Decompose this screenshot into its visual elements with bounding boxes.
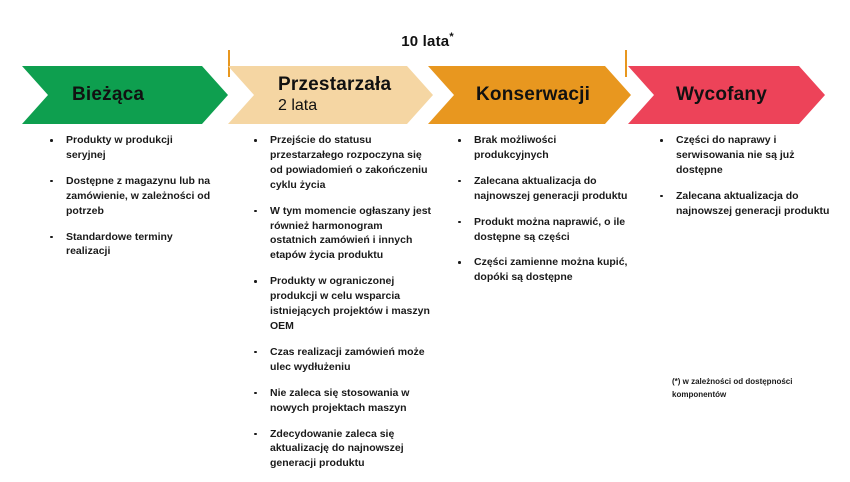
stage-arrow-przestarzala[interactable]: Przestarzała 2 lata <box>228 66 433 124</box>
duration-label-text: 10 lata <box>401 33 449 50</box>
list-item: Części do naprawy i serwisowania nie są … <box>658 133 838 178</box>
list-item: Nie zaleca się stosowania w nowych proje… <box>252 386 432 416</box>
stage-title-biezaca: Bieżąca <box>72 85 144 105</box>
list-item: Zalecana aktualizacja do najnowszej gene… <box>456 174 631 204</box>
stage-arrow-biezaca-text: Bieżąca <box>72 85 144 105</box>
stage-arrow-konserwacji[interactable]: Konserwacji <box>428 66 631 124</box>
list-item: Dostępne z magazynu lub na zamówienie, w… <box>48 174 213 219</box>
stage-arrow-band: Bieżąca Przestarzała 2 lata Konserwacji … <box>0 66 850 124</box>
list-item: Brak możliwości produkcyjnych <box>456 133 631 163</box>
stage-details-konserwacji: Brak możliwości produkcyjnych Zalecana a… <box>456 133 631 296</box>
list-item: Produkty w produkcji seryjnej <box>48 133 213 163</box>
lifecycle-diagram: 10 lata* Bieżąca Przestarzała 2 lata Kon… <box>0 0 850 436</box>
stage-arrow-przestarzala-text: Przestarzała 2 lata <box>278 75 391 115</box>
stage-arrow-wycofany[interactable]: Wycofany <box>628 66 825 124</box>
list-item: Produkt można naprawić, o ile dostępne s… <box>456 215 631 245</box>
list-item: Przejście do statusu przestarzałego rozp… <box>252 133 432 193</box>
stage-arrow-konserwacji-text: Konserwacji <box>476 85 590 105</box>
duration-label: 10 lata* <box>228 31 627 50</box>
list-item: Części zamienne można kupić, dopóki są d… <box>456 255 631 285</box>
stage-details-wycofany: Części do naprawy i serwisowania nie są … <box>658 133 838 230</box>
stage-title-konserwacji: Konserwacji <box>476 85 590 105</box>
stage-subtitle-przestarzala: 2 lata <box>278 97 391 115</box>
list-item: Zalecana aktualizacja do najnowszej gene… <box>658 189 838 219</box>
stage-arrow-biezaca[interactable]: Bieżąca <box>22 66 228 124</box>
stage-title-wycofany: Wycofany <box>676 85 767 105</box>
list-item: Czas realizacji zamówień może ulec wydłu… <box>252 345 432 375</box>
bullet-list-konserwacji: Brak możliwości produkcyjnych Zalecana a… <box>456 133 631 285</box>
stage-details-biezaca: Produkty w produkcji seryjnej Dostępne z… <box>48 133 213 270</box>
footnote-marker-icon: * <box>449 31 453 43</box>
stage-arrow-wycofany-text: Wycofany <box>676 85 767 105</box>
footnote: (*) w zależności od dostępności komponen… <box>672 376 847 402</box>
list-item: Produkty w ograniczonej produkcji w celu… <box>252 274 432 334</box>
bullet-list-wycofany: Części do naprawy i serwisowania nie są … <box>658 133 838 219</box>
list-item: W tym momencie ogłaszany jest również ha… <box>252 204 432 264</box>
list-item: Standardowe terminy realizacji <box>48 230 213 260</box>
list-item: Zdecydowanie zaleca się aktualizację do … <box>252 427 432 472</box>
stage-title-przestarzala: Przestarzała <box>278 75 391 95</box>
bullet-list-biezaca: Produkty w produkcji seryjnej Dostępne z… <box>48 133 213 259</box>
stage-details-przestarzala: Przejście do statusu przestarzałego rozp… <box>252 133 432 482</box>
bullet-list-przestarzala: Przejście do statusu przestarzałego rozp… <box>252 133 432 471</box>
